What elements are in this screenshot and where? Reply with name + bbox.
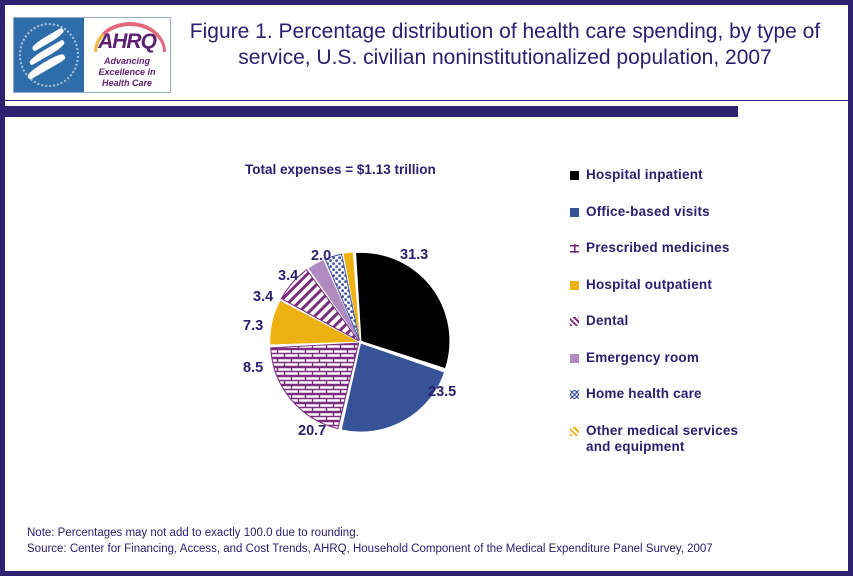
- pie-value-label-other-medical-services: 2.0: [311, 248, 331, 264]
- ahrq-wordmark: AHRQ: [84, 30, 170, 54]
- legend-item-office-based-visits[interactable]: Office-based visits: [570, 204, 840, 220]
- footer-note: Note: Percentages may not add to exactly…: [27, 525, 713, 541]
- figure-slide: AHRQ Advancing Excellence in Health Care…: [0, 0, 853, 576]
- legend-swatch-hospital-inpatient: [570, 171, 579, 180]
- legend-item-home-health-care[interactable]: Home health care: [570, 386, 840, 402]
- pie-chart: 31.3 23.5 20.7 8.5 7.3 3.4 3.4 2.0: [260, 250, 470, 445]
- legend-swatch-other-medical-services: [570, 427, 579, 436]
- legend-swatch-prescribed-medicines: [570, 244, 579, 253]
- pie-value-label-dental: 7.3: [243, 318, 263, 334]
- legend-item-other-medical-services[interactable]: Other medical services and equipment: [570, 423, 840, 455]
- pie-value-label-hospital-outpatient: 8.5: [243, 360, 263, 376]
- footer-notes: Note: Percentages may not add to exactly…: [27, 525, 713, 557]
- ahrq-tagline: Advancing Excellence in Health Care: [84, 56, 170, 89]
- legend-label-dental: Dental: [586, 313, 628, 329]
- legend-label-other-medical-services: Other medical services and equipment: [586, 423, 738, 455]
- pie-value-label-hospital-inpatient: 31.3: [400, 247, 428, 263]
- footer-source: Source: Center for Financing, Access, an…: [27, 541, 713, 557]
- pie-value-label-prescribed-medicines: 20.7: [298, 423, 326, 439]
- legend-label-home-health-care: Home health care: [586, 386, 702, 402]
- pie-value-label-emergency-room: 3.4: [253, 289, 273, 305]
- legend-swatch-hospital-outpatient: [570, 281, 579, 290]
- ahrq-logo-block: AHRQ Advancing Excellence in Health Care: [84, 18, 170, 92]
- legend-item-hospital-outpatient[interactable]: Hospital outpatient: [570, 277, 840, 293]
- chart-legend: Hospital inpatient Office-based visits P…: [570, 167, 840, 475]
- ahrq-hhs-logo: AHRQ Advancing Excellence in Health Care: [13, 17, 171, 93]
- legend-label-other-line-2: and equipment: [586, 439, 685, 454]
- legend-swatch-home-health-care: [570, 390, 579, 399]
- legend-label-hospital-outpatient: Hospital outpatient: [586, 277, 712, 293]
- hhs-seal-icon: [14, 18, 84, 92]
- legend-item-hospital-inpatient[interactable]: Hospital inpatient: [570, 167, 840, 183]
- legend-item-emergency-room[interactable]: Emergency room: [570, 350, 840, 366]
- legend-label-office-based-visits: Office-based visits: [586, 204, 710, 220]
- page-title: Figure 1. Percentage distribution of hea…: [185, 19, 825, 71]
- legend-item-dental[interactable]: Dental: [570, 313, 840, 329]
- total-expenses-caption: Total expenses = $1.13 trillion: [245, 162, 436, 177]
- legend-item-prescribed-medicines[interactable]: Prescribed medicines: [570, 240, 840, 256]
- header-divider-bar: [5, 106, 738, 117]
- legend-swatch-dental: [570, 317, 579, 326]
- legend-swatch-office-based-visits: [570, 208, 579, 217]
- pie-value-label-home-health-care: 3.4: [278, 268, 298, 284]
- legend-label-emergency-room: Emergency room: [586, 350, 699, 366]
- legend-label-prescribed-medicines: Prescribed medicines: [586, 240, 730, 256]
- pie-value-label-office-based-visits: 23.5: [428, 384, 456, 400]
- legend-swatch-emergency-room: [570, 354, 579, 363]
- legend-label-hospital-inpatient: Hospital inpatient: [586, 167, 703, 183]
- legend-label-other-line-1: Other medical services: [586, 423, 738, 438]
- slide-header: AHRQ Advancing Excellence in Health Care…: [5, 5, 848, 101]
